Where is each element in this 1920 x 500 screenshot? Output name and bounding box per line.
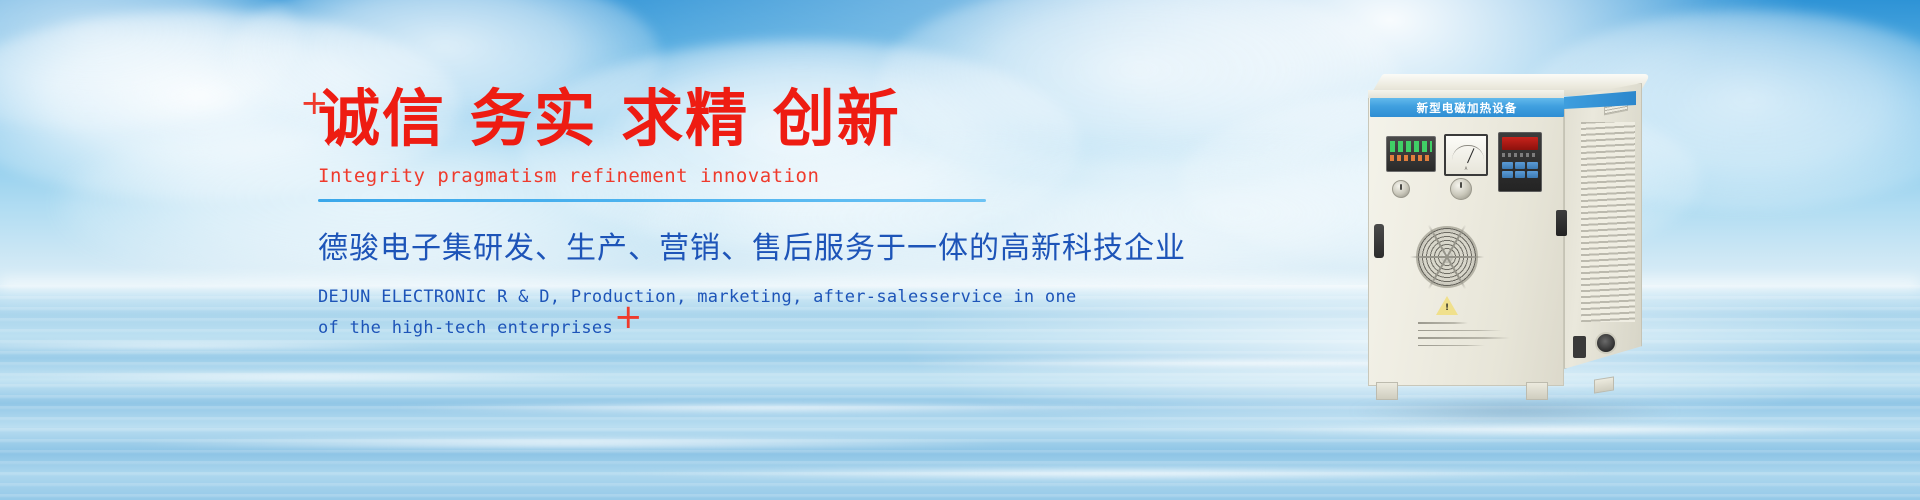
warning-triangle-icon bbox=[1436, 296, 1458, 315]
door-latch bbox=[1556, 210, 1567, 236]
company-description-english-line2: of the high-tech enterprises bbox=[318, 313, 1018, 344]
cabinet-foot bbox=[1376, 382, 1398, 400]
keypad-button bbox=[1515, 162, 1526, 169]
wave-highlight bbox=[1250, 424, 1890, 436]
spec-text-line bbox=[1418, 330, 1502, 332]
promotional-banner: + + 诚信 务实 求精 创新 Integrity pragmatism ref… bbox=[0, 0, 1920, 500]
wave-highlight bbox=[620, 467, 1620, 480]
indicator-dots bbox=[1502, 153, 1538, 157]
company-description-chinese: 德骏电子集研发、生产、营销、售后服务于一体的高新科技企业 bbox=[318, 223, 1018, 267]
keypad-button bbox=[1527, 171, 1538, 178]
keypad-buttons bbox=[1502, 162, 1538, 178]
digital-readout-line bbox=[1390, 155, 1432, 161]
cabinet-side-panel bbox=[1564, 83, 1642, 369]
product-shadow bbox=[1350, 398, 1680, 424]
control-panel: A bbox=[1382, 132, 1554, 210]
wave-highlight bbox=[0, 372, 620, 382]
spec-text-line bbox=[1418, 322, 1468, 324]
digital-readout-line bbox=[1390, 141, 1432, 152]
cabinet-foot bbox=[1594, 376, 1614, 393]
keypad-button bbox=[1515, 171, 1526, 178]
product-label-strip: 新型电磁加热设备 bbox=[1370, 98, 1564, 117]
keypad-controller bbox=[1498, 132, 1542, 192]
keypad-button bbox=[1502, 162, 1513, 169]
led-display bbox=[1502, 137, 1538, 150]
cabinet-foot bbox=[1526, 382, 1548, 400]
company-description-english-line1: DEJUN ELECTRONIC R & D, Production, mark… bbox=[318, 282, 1018, 313]
product-label-text: 新型电磁加热设备 bbox=[1417, 100, 1518, 116]
divider-line bbox=[318, 199, 986, 202]
door-handle bbox=[1374, 224, 1384, 258]
headline-slogan: 诚信 务实 求精 创新 bbox=[318, 86, 1018, 153]
company-description-english: DEJUN ELECTRONIC R & D, Production, mark… bbox=[318, 282, 1018, 345]
digital-display bbox=[1386, 136, 1436, 172]
spec-text-line bbox=[1418, 345, 1485, 347]
banner-copy-block: 诚信 务实 求精 创新 Integrity pragmatism refinem… bbox=[318, 86, 1018, 345]
ammeter-label: A bbox=[1446, 166, 1486, 171]
cooling-fan-icon bbox=[1416, 226, 1478, 288]
specification-label bbox=[1418, 322, 1514, 352]
selector-knob bbox=[1392, 180, 1410, 198]
analog-ammeter: A bbox=[1444, 134, 1488, 176]
product-photo-heating-equipment: 新型电磁加热设备 A bbox=[1368, 74, 1658, 414]
wave-highlight bbox=[380, 402, 1160, 414]
rotary-knob bbox=[1450, 178, 1472, 200]
spec-text-line bbox=[1418, 337, 1510, 339]
wave-highlight bbox=[120, 436, 1020, 450]
cable-port bbox=[1573, 336, 1586, 358]
headline-slogan-english: Integrity pragmatism refinement innovati… bbox=[318, 165, 1018, 187]
round-connector-port bbox=[1595, 332, 1617, 354]
ventilation-grille-icon bbox=[1581, 122, 1635, 322]
keypad-button bbox=[1527, 162, 1538, 169]
keypad-button bbox=[1502, 171, 1513, 178]
